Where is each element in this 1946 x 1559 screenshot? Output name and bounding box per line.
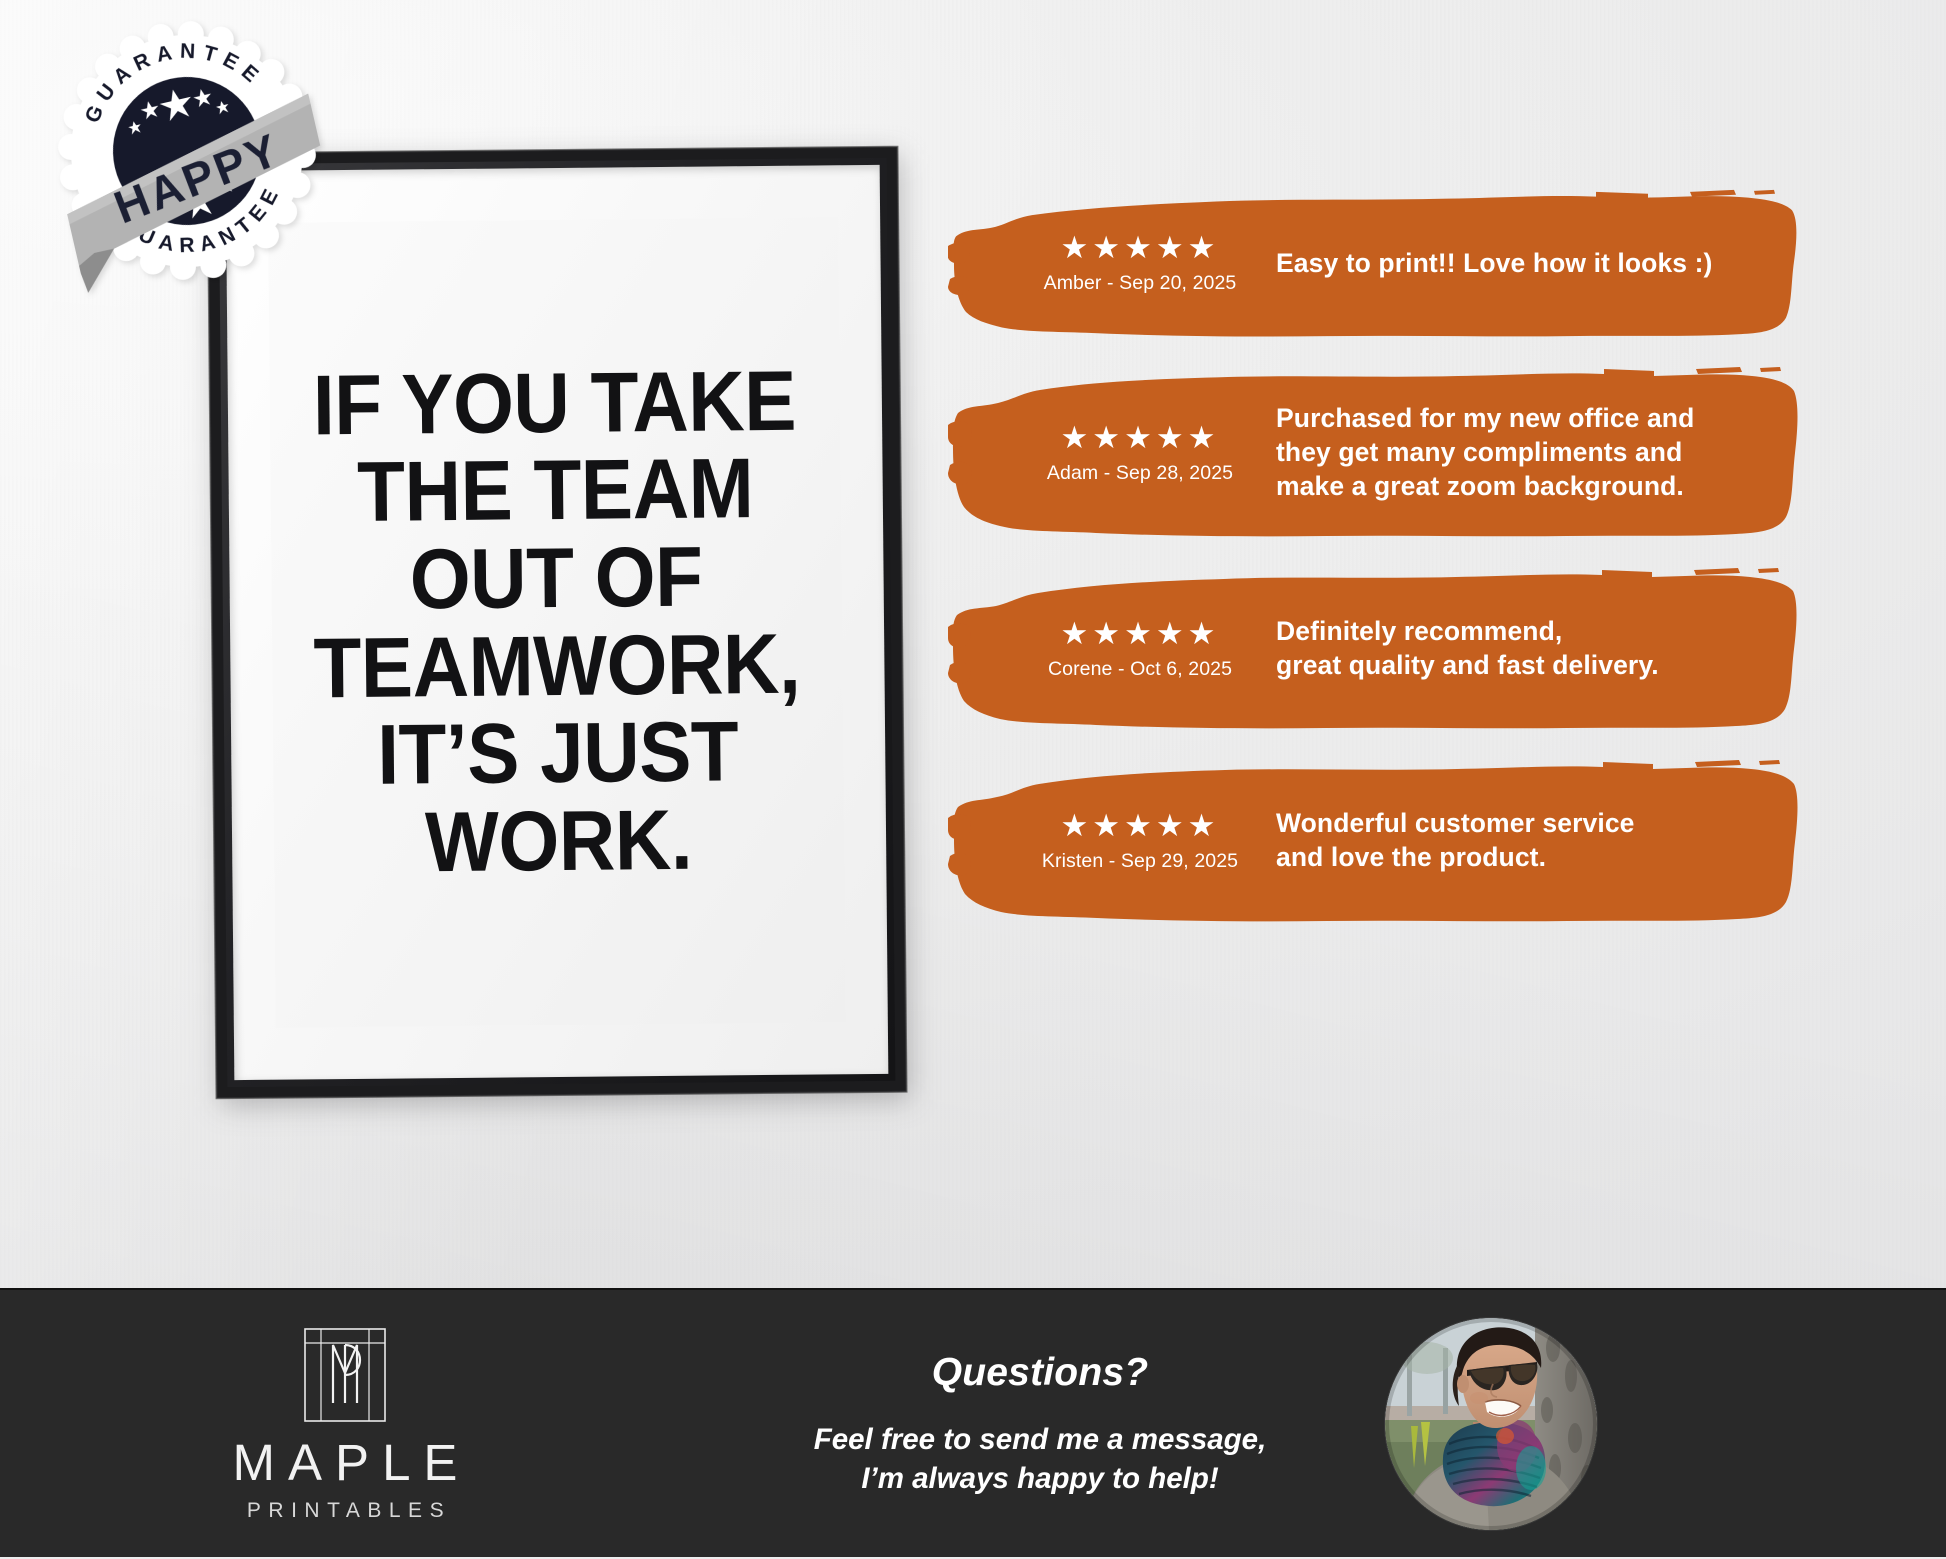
brand-name: MAPLE <box>220 1437 471 1488</box>
review-text: Purchased for my new office and they get… <box>1276 402 1764 504</box>
brand-logo-block: MAPLE PRINTABLES <box>0 1290 690 1559</box>
review-author: Adam - Sep 28, 2025 <box>1034 462 1246 485</box>
review-item: ★★★★★ Corene - Oct 6, 2025 Definitely re… <box>948 565 1798 733</box>
review-content: ★★★★★ Corene - Oct 6, 2025 Definitely re… <box>948 615 1798 683</box>
listing-image: IF YOU TAKE THE TEAM OUT OF TEAMWORK, IT… <box>0 0 1946 1557</box>
review-author: Kristen - Sep 29, 2025 <box>1034 850 1246 873</box>
maple-monogram-icon <box>303 1327 387 1423</box>
review-meta: ★★★★★ Corene - Oct 6, 2025 <box>1034 618 1246 681</box>
poster-quote-text: IF YOU TAKE THE TEAM OUT OF TEAMWORK, IT… <box>306 357 809 887</box>
brand-tagline: PRINTABLES <box>239 1499 451 1523</box>
review-item: ★★★★★ Adam - Sep 28, 2025 Purchased for … <box>948 365 1798 541</box>
review-content: ★★★★★ Adam - Sep 28, 2025 Purchased for … <box>948 402 1798 504</box>
review-text: Wonderful customer service and love the … <box>1276 807 1764 875</box>
review-text: Definitely recommend, great quality and … <box>1276 615 1764 683</box>
review-content: ★★★★★ Kristen - Sep 29, 2025 Wonderful c… <box>948 807 1798 875</box>
questions-heading: Questions? <box>932 1351 1149 1395</box>
review-item: ★★★★★ Kristen - Sep 29, 2025 Wonderful c… <box>948 757 1798 925</box>
review-item: ★★★★★ Amber - Sep 20, 2025 Easy to print… <box>948 186 1798 341</box>
poster-mat: IF YOU TAKE THE TEAM OUT OF TEAMWORK, IT… <box>226 165 889 1080</box>
star-rating-icon: ★★★★★ <box>1034 810 1246 841</box>
questions-block: Questions? Feel free to send me a messag… <box>690 1290 1390 1559</box>
poster-artwork: IF YOU TAKE THE TEAM OUT OF TEAMWORK, IT… <box>268 217 846 1027</box>
review-author: Corene - Oct 6, 2025 <box>1034 658 1246 681</box>
star-rating-icon: ★★★★★ <box>1034 232 1246 263</box>
review-content: ★★★★★ Amber - Sep 20, 2025 Easy to print… <box>948 232 1798 295</box>
picture-frame: IF YOU TAKE THE TEAM OUT OF TEAMWORK, IT… <box>207 147 906 1099</box>
review-text: Easy to print!! Love how it looks :) <box>1276 247 1764 281</box>
questions-subtext: Feel free to send me a message, I’m alwa… <box>814 1421 1267 1499</box>
framed-poster: IF YOU TAKE THE TEAM OUT OF TEAMWORK, IT… <box>207 147 906 1099</box>
review-meta: ★★★★★ Amber - Sep 20, 2025 <box>1034 232 1246 295</box>
star-rating-icon: ★★★★★ <box>1034 422 1246 453</box>
review-meta: ★★★★★ Adam - Sep 28, 2025 <box>1034 422 1246 485</box>
footer-bar: MAPLE PRINTABLES Questions? Feel free to… <box>0 1288 1946 1557</box>
review-author: Amber - Sep 20, 2025 <box>1034 272 1246 295</box>
reviews-list: ★★★★★ Amber - Sep 20, 2025 Easy to print… <box>948 186 1798 949</box>
review-meta: ★★★★★ Kristen - Sep 29, 2025 <box>1034 810 1246 873</box>
star-rating-icon: ★★★★★ <box>1034 618 1246 649</box>
seller-avatar <box>1385 1318 1597 1530</box>
